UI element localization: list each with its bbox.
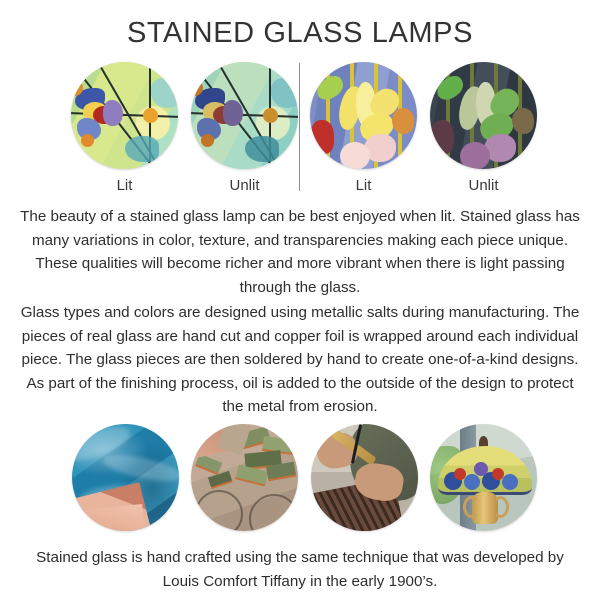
page-title: STAINED GLASS LAMPS [0,18,600,48]
comparison-divider [299,63,300,191]
comparison-caption: Unlit [430,178,537,195]
comparison-caption: Lit [310,178,417,195]
comparison-item-geometric-unlit: Unlit [191,62,298,195]
process-image-row [0,424,600,532]
stained-glass-geometric-unlit-icon [191,62,298,169]
comparison-item-floral-lit: Lit [310,62,417,195]
stained-glass-floral-unlit-icon [430,62,537,169]
comparison-row: Lit Unlit [0,62,600,194]
finished-tiffany-lamp-image-icon [430,424,537,531]
stained-glass-geometric-lit-icon [71,62,178,169]
intro-paragraph: The beauty of a stained glass lamp can b… [18,205,582,299]
process-paragraph: Glass types and colors are designed usin… [18,301,582,419]
comparison-caption: Lit [71,178,178,195]
comparison-item-floral-unlit: Unlit [430,62,537,195]
blue-glass-sheet-image-icon [72,424,179,531]
stained-glass-floral-lit-icon [310,62,417,169]
hand-soldering-image-icon [311,424,418,531]
infographic-page: STAINED GLASS LAMPS Lit [0,0,600,600]
cut-glass-pieces-image-icon [191,424,298,531]
comparison-caption: Unlit [191,178,298,195]
footer-paragraph: Stained glass is hand crafted using the … [18,546,582,593]
comparison-item-geometric-lit: Lit [71,62,178,195]
